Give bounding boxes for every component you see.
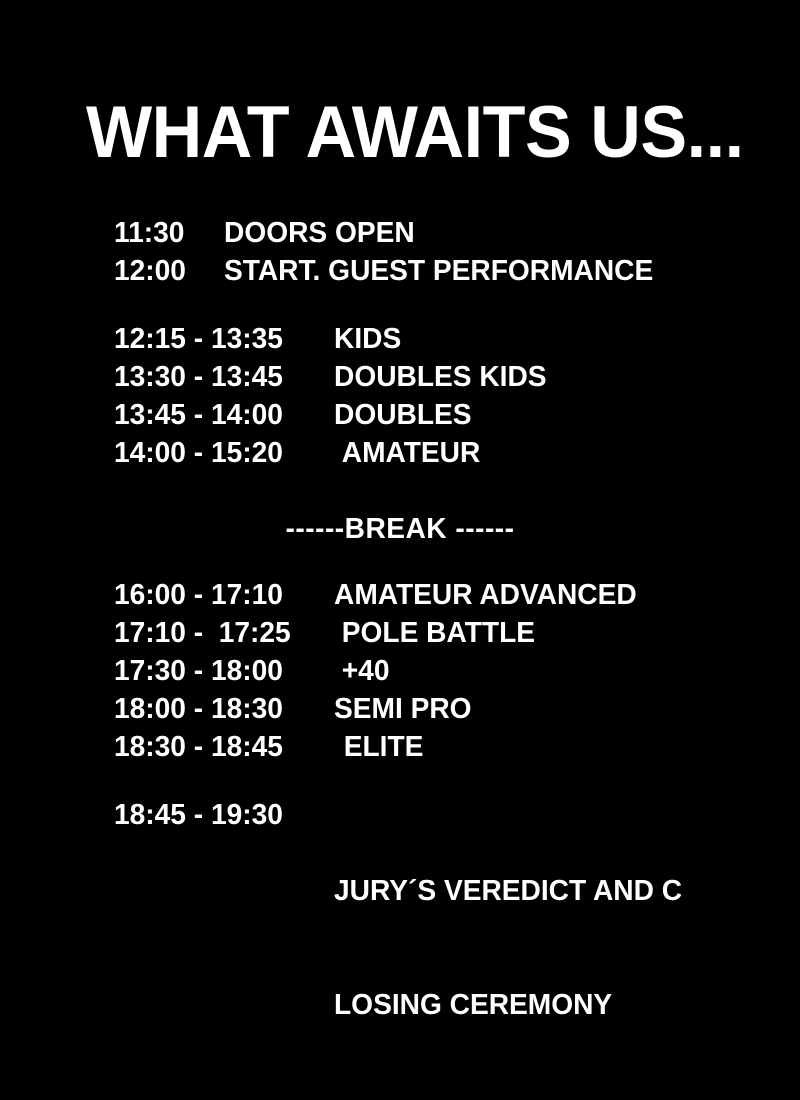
- schedule-time: 12:00: [114, 252, 221, 290]
- schedule-time: 13:30 - 13:45: [114, 358, 327, 396]
- schedule-row: 18:45 - 19:30 JURY´S VEREDICT AND C LOSI…: [0, 796, 800, 1100]
- schedule-label: DOORS OPEN: [224, 214, 415, 252]
- schedule-row: 13:30 - 13:45 DOUBLES KIDS: [0, 358, 800, 396]
- schedule-time: 18:30 - 18:45: [114, 728, 327, 766]
- schedule-label: SEMI PRO: [334, 690, 472, 728]
- poster-canvas: WHAT AWAITS US... 11:30 DOORS OPEN 12:00…: [0, 0, 800, 1000]
- schedule-row: 13:45 - 14:00 DOUBLES: [0, 396, 800, 434]
- schedule-row: 17:30 - 18:00 +40: [0, 652, 800, 690]
- schedule-group-opening: 11:30 DOORS OPEN 12:00 START. GUEST PERF…: [0, 214, 800, 290]
- schedule-row: 16:00 - 17:10 AMATEUR ADVANCED: [0, 576, 800, 614]
- schedule-row: 12:00 START. GUEST PERFORMANCE: [0, 252, 800, 290]
- schedule-label-line-2: LOSING CEREMONY: [334, 986, 682, 1024]
- schedule-label: AMATEUR: [334, 434, 480, 472]
- schedule-label: KIDS: [334, 320, 401, 358]
- schedule-label: POLE BATTLE: [334, 614, 535, 652]
- schedule-label: +40: [334, 652, 389, 690]
- schedule-time: 11:30: [114, 214, 221, 252]
- schedule-list: 11:30 DOORS OPEN 12:00 START. GUEST PERF…: [0, 214, 800, 1100]
- schedule-row: 12:15 - 13:35 KIDS: [0, 320, 800, 358]
- schedule-row: 18:30 - 18:45 ELITE: [0, 728, 800, 766]
- schedule-group-late: 16:00 - 17:10 AMATEUR ADVANCED 17:10 - 1…: [0, 576, 800, 766]
- schedule-group-closing: 18:45 - 19:30 JURY´S VEREDICT AND C LOSI…: [0, 796, 800, 1100]
- schedule-time: 14:00 - 15:20: [114, 434, 327, 472]
- schedule-time: 18:00 - 18:30: [114, 690, 327, 728]
- schedule-row: 17:10 - 17:25 POLE BATTLE: [0, 614, 800, 652]
- schedule-time: 17:30 - 18:00: [114, 652, 327, 690]
- schedule-label-line-1: JURY´S VEREDICT AND C: [334, 872, 682, 910]
- schedule-time: 17:10 - 17:25: [114, 614, 327, 652]
- schedule-time: 12:15 - 13:35: [114, 320, 327, 358]
- schedule-row: 14:00 - 15:20 AMATEUR: [0, 434, 800, 472]
- break-divider-label: ------BREAK ------: [286, 510, 515, 548]
- schedule-label: ELITE: [334, 728, 423, 766]
- schedule-label: DOUBLES KIDS: [334, 358, 547, 396]
- schedule-label: DOUBLES: [334, 396, 472, 434]
- schedule-label: START. GUEST PERFORMANCE: [224, 252, 653, 290]
- schedule-time: 18:45 - 19:30: [114, 796, 327, 834]
- schedule-row: 18:00 - 18:30 SEMI PRO: [0, 690, 800, 728]
- schedule-group-early: 12:15 - 13:35 KIDS 13:30 - 13:45 DOUBLES…: [0, 320, 800, 472]
- schedule-time: 16:00 - 17:10: [114, 576, 327, 614]
- schedule-time: 13:45 - 14:00: [114, 396, 327, 434]
- page-title: WHAT AWAITS US...: [86, 93, 744, 173]
- break-divider: ------BREAK ------: [0, 510, 800, 548]
- schedule-row: 11:30 DOORS OPEN: [0, 214, 800, 252]
- schedule-label: AMATEUR ADVANCED: [334, 576, 637, 614]
- schedule-label: JURY´S VEREDICT AND C LOSING CEREMONY: [334, 796, 682, 1100]
